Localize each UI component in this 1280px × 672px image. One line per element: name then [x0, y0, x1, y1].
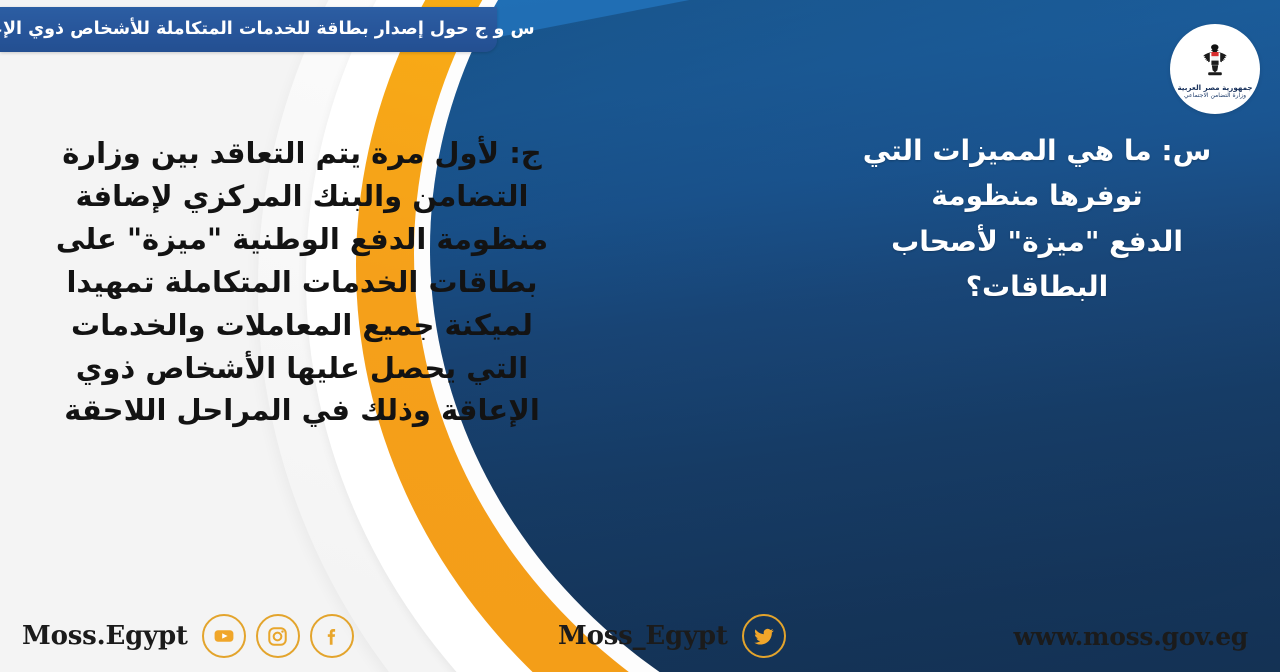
egyptian-eagle-emblem-icon	[1200, 43, 1230, 81]
footer-bar: Moss.Egypt Moss_Egypt www.moss.gov.eg	[0, 600, 1280, 672]
twitter-handle[interactable]: Moss_Egypt	[558, 621, 728, 651]
question-text: س: ما هي المميزات التي توفرها منظومة الد…	[812, 128, 1262, 309]
youtube-icon[interactable]	[202, 614, 246, 658]
ministry-logo: جمهورية مصر العربية وزارة التضامن الاجتم…	[1170, 24, 1260, 114]
header-banner-title: س و ج حول إصدار بطاقة للخدمات المتكاملة …	[0, 21, 547, 39]
twitter-link-group: Moss_Egypt	[558, 614, 796, 658]
main-social-handle[interactable]: Moss.Egypt	[22, 621, 188, 651]
infographic-card: س و ج حول إصدار بطاقة للخدمات المتكاملة …	[0, 0, 1280, 672]
answer-text: ج: لأول مرة يتم التعاقد بين وزارة التضام…	[28, 132, 576, 432]
instagram-icon[interactable]	[256, 614, 300, 658]
social-links-group: Moss.Egypt	[22, 614, 364, 658]
logo-country-line: جمهورية مصر العربية	[1177, 84, 1252, 91]
website-url[interactable]: www.moss.gov.eg	[1014, 622, 1249, 651]
twitter-icon[interactable]	[742, 614, 786, 658]
logo-ministry-line: وزارة التضامن الاجتماعي	[1184, 93, 1246, 99]
header-banner: س و ج حول إصدار بطاقة للخدمات المتكاملة …	[0, 7, 497, 52]
website-group: www.moss.gov.eg	[1014, 622, 1249, 651]
facebook-icon[interactable]	[310, 614, 354, 658]
